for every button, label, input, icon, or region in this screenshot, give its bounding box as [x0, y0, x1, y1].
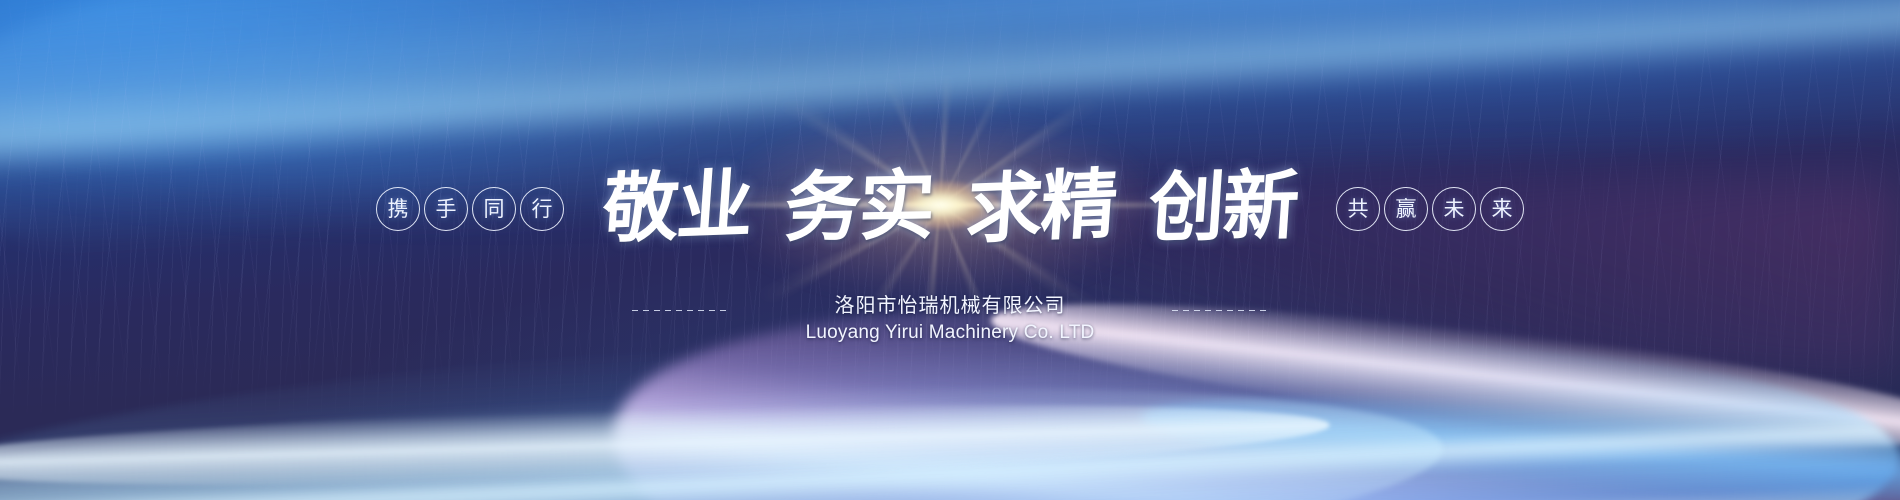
calligraphy-word-jingye: 敬业 [600, 168, 754, 245]
circle-char-wei: 未 [1432, 187, 1476, 231]
circle-char-shou: 手 [424, 187, 468, 231]
slogan-row: 携 手 同 行 敬业 务实 求精 创新 共 赢 未 来 [0, 150, 1900, 268]
dashed-rule-left [632, 310, 728, 311]
company-name-cn: 洛阳市怡瑞机械有限公司 [835, 292, 1066, 319]
banner-content: 携 手 同 行 敬业 务实 求精 创新 共 赢 未 来 洛阳市怡瑞机械有限公司 [0, 0, 1900, 500]
circle-char-xing: 行 [520, 187, 564, 231]
calligraphy-slogan: 敬业 务实 求精 创新 [586, 171, 1314, 247]
circle-char-xie: 携 [376, 187, 420, 231]
left-circled-phrase: 携 手 同 行 [376, 187, 564, 231]
right-circled-phrase: 共 赢 未 来 [1336, 187, 1524, 231]
circle-char-tong: 同 [472, 187, 516, 231]
circle-char-gong: 共 [1336, 187, 1380, 231]
circle-char-ying: 赢 [1384, 187, 1428, 231]
company-name-block: 洛阳市怡瑞机械有限公司 Luoyang Yirui Machinery Co. … [0, 292, 1900, 347]
corporate-banner: 携 手 同 行 敬业 务实 求精 创新 共 赢 未 来 洛阳市怡瑞机械有限公司 [0, 0, 1900, 500]
calligraphy-word-qiujing: 求精 [964, 168, 1117, 246]
calligraphy-word-wushi: 务实 [783, 170, 935, 245]
circle-char-lai: 来 [1480, 187, 1524, 231]
calligraphy-word-chuangxin: 创新 [1146, 169, 1299, 244]
company-name-en: Luoyang Yirui Machinery Co. LTD [806, 319, 1095, 347]
company-names: 洛阳市怡瑞机械有限公司 Luoyang Yirui Machinery Co. … [800, 292, 1100, 347]
dashed-rule-right [1172, 310, 1268, 311]
